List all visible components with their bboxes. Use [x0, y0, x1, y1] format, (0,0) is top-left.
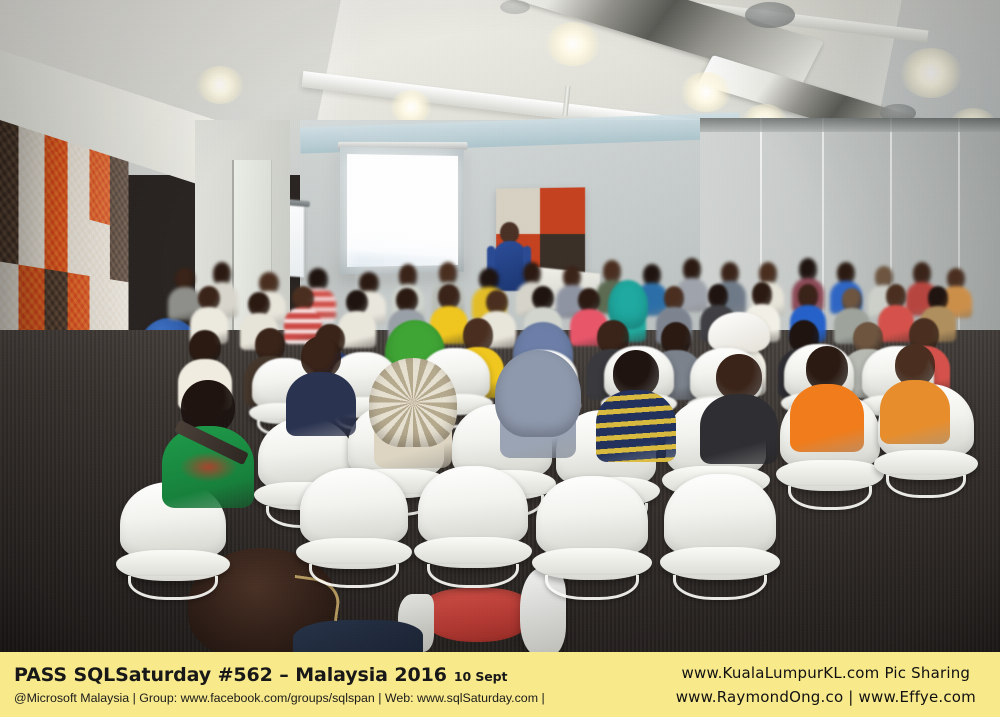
acoustic-panel — [0, 260, 18, 328]
ceiling-speaker-icon — [500, 0, 530, 14]
chair-legs — [886, 475, 967, 498]
acoustic-panel — [44, 269, 68, 331]
attendee-torso — [880, 380, 950, 444]
chair-backrest — [536, 476, 648, 558]
credit-line-2: www.RaymondOng.co | www.Effye.com — [676, 688, 976, 706]
attendee-torso — [790, 384, 864, 452]
downlight-icon — [545, 22, 601, 66]
chair — [300, 468, 408, 588]
acoustic-panel — [68, 156, 90, 220]
hijab — [369, 358, 456, 447]
presenter-head — [500, 222, 519, 243]
acoustic-panel — [18, 137, 44, 208]
turban — [708, 312, 771, 352]
chair-legs — [427, 564, 519, 588]
chair-legs — [545, 575, 639, 600]
audience-attendee-near — [286, 336, 356, 436]
red-cushion — [418, 588, 536, 642]
chair-legs — [788, 486, 872, 510]
downlight-icon — [196, 66, 244, 104]
chair — [536, 476, 648, 600]
acoustic-panel — [18, 265, 44, 330]
chair-legs — [128, 576, 217, 600]
chair-legs — [673, 575, 767, 600]
chair — [418, 466, 528, 588]
chair-backrest — [418, 466, 528, 547]
acoustic-panel — [0, 193, 18, 264]
caption-subtitle: @Microsoft Malaysia | Group: www.faceboo… — [14, 691, 545, 705]
acoustic-panel — [0, 127, 18, 201]
audience-attendee-near — [500, 352, 576, 458]
chair — [664, 474, 776, 600]
audience-attendee-near — [880, 344, 950, 444]
downlight-icon — [390, 90, 432, 124]
ceiling-speaker-icon — [745, 2, 795, 28]
audience-attendee-near — [790, 346, 864, 452]
event-title: PASS SQLSaturday #562 – Malaysia 2016 — [14, 664, 447, 686]
audience-attendee-near — [596, 350, 676, 462]
audience-attendee-near — [374, 360, 452, 468]
acoustic-panel — [90, 220, 110, 279]
downlight-icon — [680, 72, 732, 112]
credit-line-1: www.KualaLumpurKL.com Pic Sharing — [682, 664, 971, 682]
acoustic-panel — [110, 172, 129, 231]
caption-left-block: PASS SQLSaturday #562 – Malaysia 2016 10… — [14, 664, 545, 705]
acoustic-panel — [44, 208, 68, 273]
event-date: 10 Sept — [454, 669, 507, 684]
event-photo — [0, 0, 1000, 652]
chair-backrest — [300, 468, 408, 547]
partition-top-shadow — [700, 118, 1000, 132]
attendee-torso — [700, 394, 778, 464]
acoustic-panel — [110, 225, 129, 282]
projection-screen — [347, 154, 458, 267]
attendee-torso — [286, 372, 356, 436]
screenshot-root: PASS SQLSaturday #562 – Malaysia 2016 10… — [0, 0, 1000, 717]
acoustic-panel — [90, 164, 110, 225]
caption-right-block: www.KualaLumpurKL.com Pic Sharing www.Ra… — [676, 664, 986, 706]
acoustic-panel — [90, 276, 110, 333]
hijab — [495, 350, 580, 437]
audience-attendee-near — [700, 354, 778, 464]
chair-legs — [309, 564, 400, 588]
foreground-shoulder — [293, 620, 423, 652]
acoustic-panel — [68, 273, 90, 332]
caption-bar: PASS SQLSaturday #562 – Malaysia 2016 10… — [0, 652, 1000, 717]
downlight-icon — [900, 48, 962, 98]
decor-panel — [540, 187, 585, 234]
caption-title-row: PASS SQLSaturday #562 – Malaysia 2016 10… — [14, 664, 545, 686]
acoustic-panel — [68, 214, 90, 276]
chair-backrest — [664, 474, 776, 557]
acoustic-panel — [44, 147, 68, 214]
acoustic-panel — [110, 279, 129, 334]
green-polo-attendee — [162, 380, 254, 508]
acoustic-panel — [18, 201, 44, 269]
shirt-stripe-pattern — [596, 390, 676, 462]
